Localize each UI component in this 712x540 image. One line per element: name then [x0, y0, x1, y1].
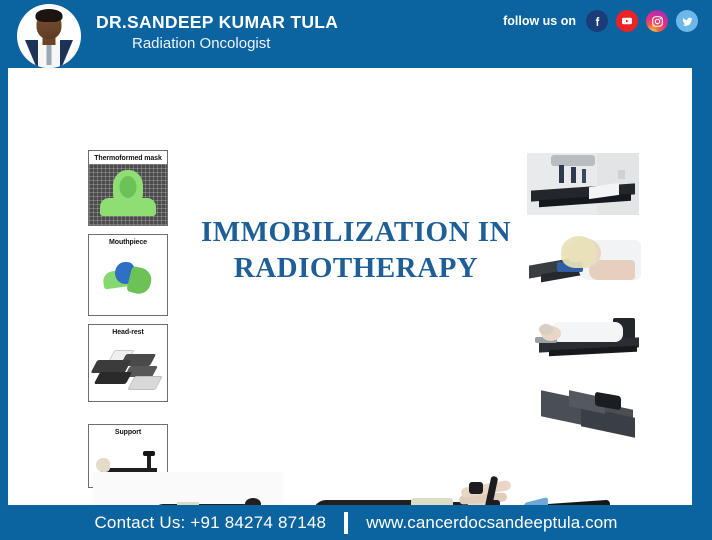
poster-root: DR.SANDEEP KUMAR TULA Radiation Oncologi… — [0, 0, 712, 540]
contact-text: Contact Us: +91 84274 87148 — [94, 513, 326, 533]
twitter-icon[interactable] — [676, 10, 698, 32]
head-rest-block-2 — [94, 372, 132, 384]
card-head-rest: Head-rest — [88, 324, 168, 402]
blue-cushion-1 — [524, 497, 548, 505]
card-label: Thermoformed mask — [89, 151, 167, 164]
avatar-lapel-right — [60, 40, 73, 68]
supine-immobilization-photo — [291, 472, 515, 505]
blue-cushion-board-photo — [518, 488, 644, 505]
card-thermoformed-mask: Thermoformed mask — [88, 150, 168, 226]
thermoformed-mask-image — [89, 164, 167, 225]
avatar-tie — [47, 43, 52, 65]
head-rest-block-white — [127, 376, 162, 390]
patient-belt — [411, 498, 453, 505]
website-text[interactable]: www.cancerdocsandeeptula.com — [366, 513, 617, 533]
avatar-lapel-left — [25, 40, 38, 68]
patient-hair-bun — [245, 498, 261, 505]
support-knob — [143, 451, 155, 456]
card-label: Mouthpiece — [89, 235, 167, 248]
doctor-name-block: DR.SANDEEP KUMAR TULA Radiation Oncologi… — [96, 12, 426, 53]
breast-board-photo — [539, 386, 649, 442]
mouthpiece-image — [89, 248, 167, 315]
device-arm-b — [571, 167, 576, 183]
follow-us-label: follow us on — [503, 14, 576, 28]
wall-switch — [618, 170, 625, 179]
facebook-icon[interactable] — [586, 10, 608, 32]
card-label: Head-rest — [89, 325, 167, 338]
patient-head-mask-photo — [527, 228, 643, 294]
support-foam — [96, 458, 110, 472]
doctor-avatar — [17, 4, 81, 68]
instagram-icon[interactable] — [646, 10, 668, 32]
mouthpiece-handle — [126, 266, 154, 297]
social-links: follow us on — [503, 10, 698, 32]
head-mask — [561, 236, 597, 268]
patient-body — [551, 322, 623, 342]
youtube-icon[interactable] — [616, 10, 638, 32]
head-rest-image — [89, 338, 167, 401]
prone-belly-board-photo — [93, 472, 283, 505]
doctor-name: DR.SANDEEP KUMAR TULA — [96, 12, 426, 32]
patient-hair — [539, 324, 553, 335]
poster-canvas: IMMOBILIZATION IN RADIOTHERAPY Thermofor… — [8, 68, 692, 505]
treatment-couch-photo — [527, 153, 639, 215]
device-arm-c — [582, 169, 586, 183]
page-title: IMMOBILIZATION IN RADIOTHERAPY — [186, 214, 526, 286]
card-label: Support — [89, 425, 167, 438]
patient-prone-table-photo — [527, 306, 643, 364]
footer-bar: Contact Us: +91 84274 87148 www.cancerdo… — [0, 505, 712, 540]
avatar-hair — [36, 9, 63, 22]
card-mouthpiece: Mouthpiece — [88, 234, 168, 316]
device-arm-a — [559, 165, 564, 183]
page-title-line1: IMMOBILIZATION IN — [186, 214, 526, 250]
header-bar: DR.SANDEEP KUMAR TULA Radiation Oncologi… — [0, 0, 712, 66]
mask-face — [113, 170, 143, 204]
page-title-line2: RADIOTHERAPY — [186, 250, 526, 286]
footer-divider — [344, 512, 348, 534]
support-post — [147, 454, 151, 469]
wrist-cuff-a — [469, 482, 483, 494]
gantry — [551, 155, 595, 166]
doctor-role: Radiation Oncologist — [132, 34, 426, 53]
